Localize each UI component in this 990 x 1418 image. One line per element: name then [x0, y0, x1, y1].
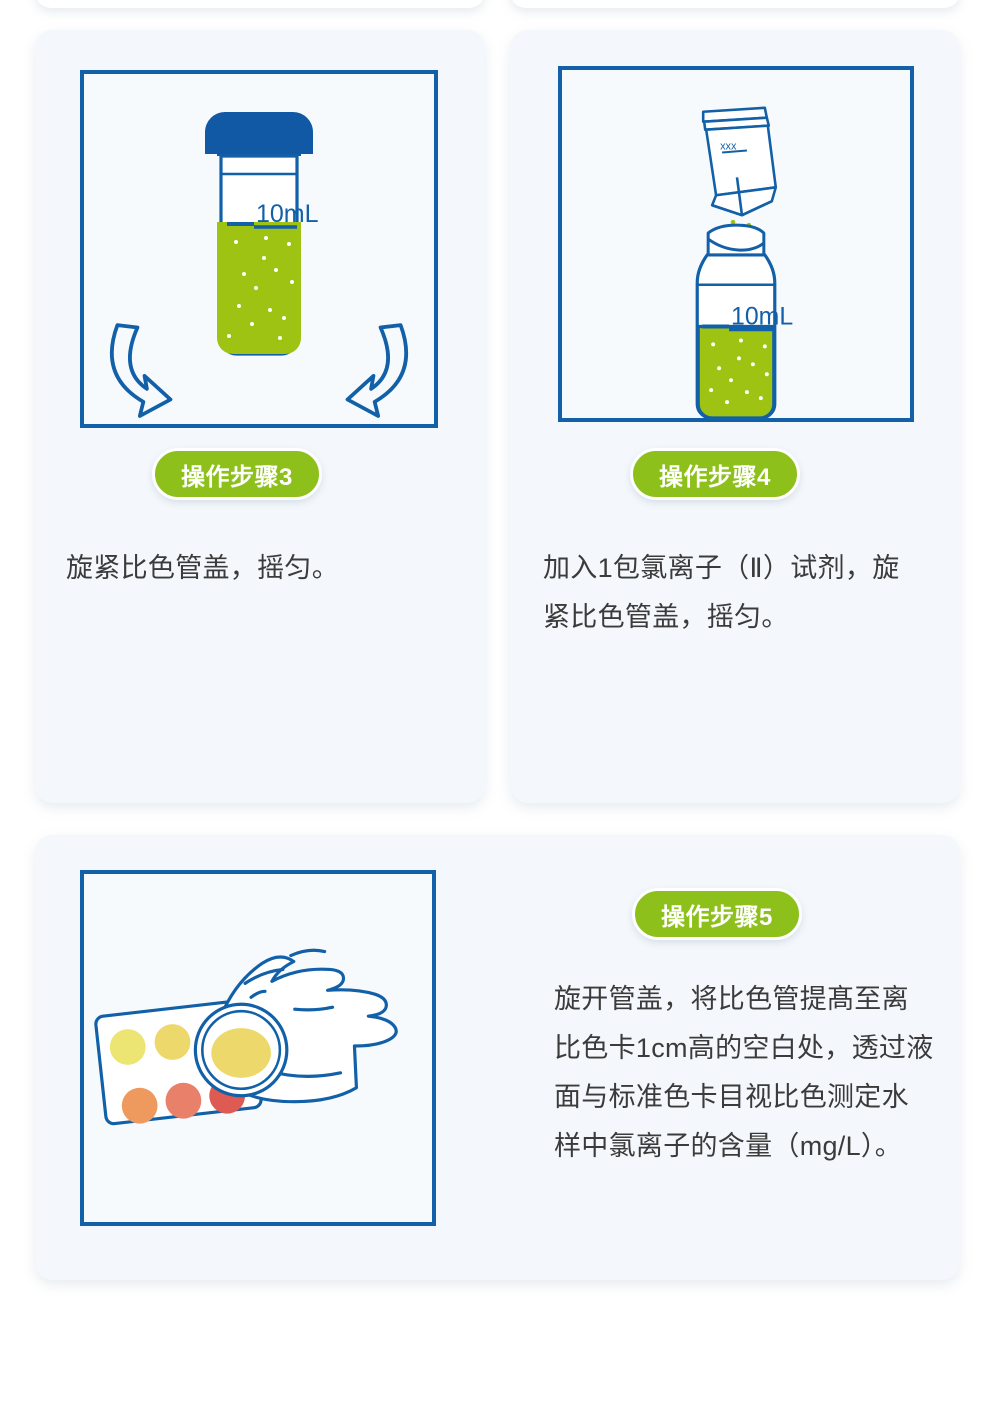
color-swatch-2 — [155, 1024, 191, 1060]
shake-arrow-left-icon — [112, 325, 171, 416]
step-3-badge: 操作步骤3 — [152, 448, 322, 500]
volume-label-10ml: 10mL — [731, 304, 793, 331]
previous-row-card-right — [510, 0, 960, 8]
volume-label-10ml: 10mL — [256, 200, 319, 228]
step-3-description: 旋紧比色管盖，摇匀。 — [66, 544, 456, 593]
step-card-3: 10mL 操作步骤3 旋紧比色管盖，摇匀。 — [35, 30, 485, 803]
tube-cap-icon — [205, 112, 313, 154]
color-swatch-5 — [166, 1083, 202, 1119]
color-swatch-1 — [110, 1029, 146, 1065]
step-card-4: xxx — [510, 30, 960, 803]
step-4-illustration-frame: xxx — [558, 66, 914, 422]
green-liquid — [698, 327, 774, 418]
step-5-badge: 操作步骤5 — [632, 888, 802, 940]
sample-liquid — [211, 1028, 271, 1078]
color-swatch-4 — [122, 1088, 158, 1124]
steps-page: 10mL 操作步骤3 旋紧比色管盖，摇匀。 — [0, 0, 990, 1418]
colorimetric-tube-top-icon — [195, 1004, 286, 1095]
green-liquid — [214, 222, 306, 362]
step-card-5: 操作步骤5 旋开管盖，将比色管提髙至离比色卡1cm高的空白处，透过液面与标准色卡… — [35, 835, 960, 1280]
step-4-description: 加入1包氯离子（Ⅱ）试剂，旋紧比色管盖，摇匀。 — [543, 544, 905, 642]
step-5-description: 旋开管盖，将比色管提髙至离比色卡1cm高的空白处，透过液面与标准色卡目视比色测定… — [554, 975, 934, 1171]
shake-arrow-right-icon — [348, 325, 407, 416]
step-4-badge: 操作步骤4 — [630, 448, 800, 500]
sachet-label-xxx: xxx — [720, 141, 737, 153]
step-3-illustration-frame: 10mL — [80, 70, 438, 428]
step-5-illustration-frame — [80, 870, 436, 1226]
reagent-sachet-icon — [703, 108, 776, 215]
previous-row-card-left — [35, 0, 485, 8]
